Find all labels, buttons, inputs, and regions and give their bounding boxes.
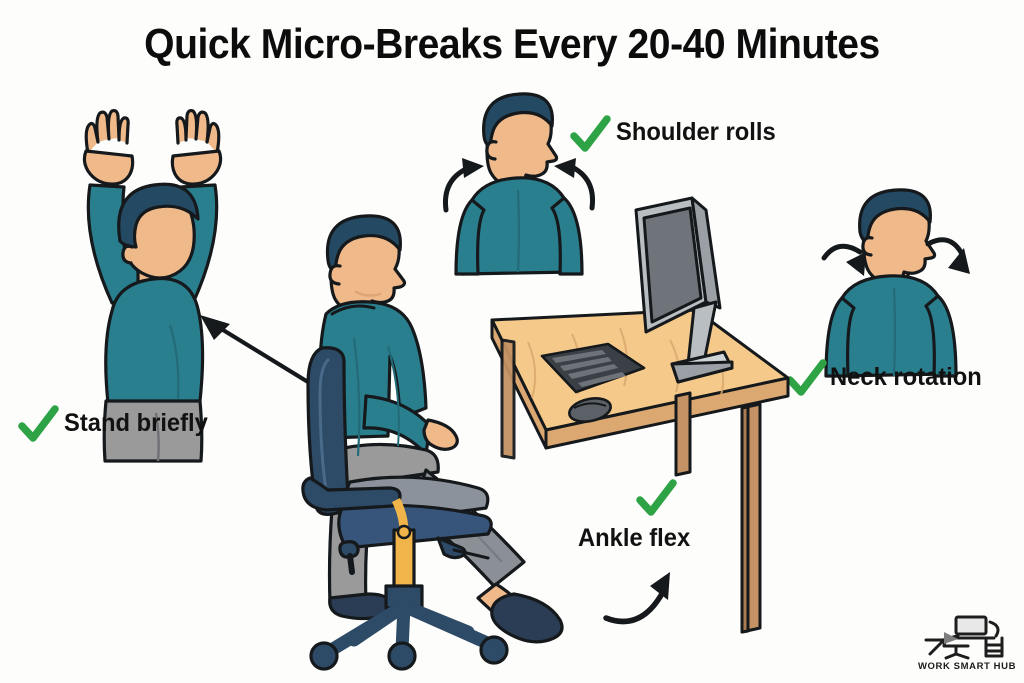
office-chair-five-caster-base xyxy=(298,300,528,648)
logo: WORK SMART HUB xyxy=(916,612,1018,672)
label-shoulder-rolls: Shoulder rolls xyxy=(616,118,776,147)
curved-arrow-up-right-icon xyxy=(600,562,690,632)
logo-text: WORK SMART HUB xyxy=(916,661,1018,672)
label-ankle-flex: Ankle flex xyxy=(578,524,690,553)
label-neck-rotation: Neck rotation xyxy=(830,363,982,392)
page-title: Quick Micro-Breaks Every 20-40 Minutes xyxy=(36,20,988,68)
check-icon-stand-briefly xyxy=(18,406,60,446)
person-bust-head-arrows-icon xyxy=(806,196,996,376)
check-icon-shoulder-rolls xyxy=(570,116,612,156)
infographic-canvas: Quick Micro-Breaks Every 20-40 Minutes xyxy=(0,0,1024,683)
desk-chair-monitor-logo-icon xyxy=(916,612,1018,660)
label-stand-briefly: Stand briefly xyxy=(64,409,208,438)
check-icon-ankle-flex xyxy=(636,480,678,520)
